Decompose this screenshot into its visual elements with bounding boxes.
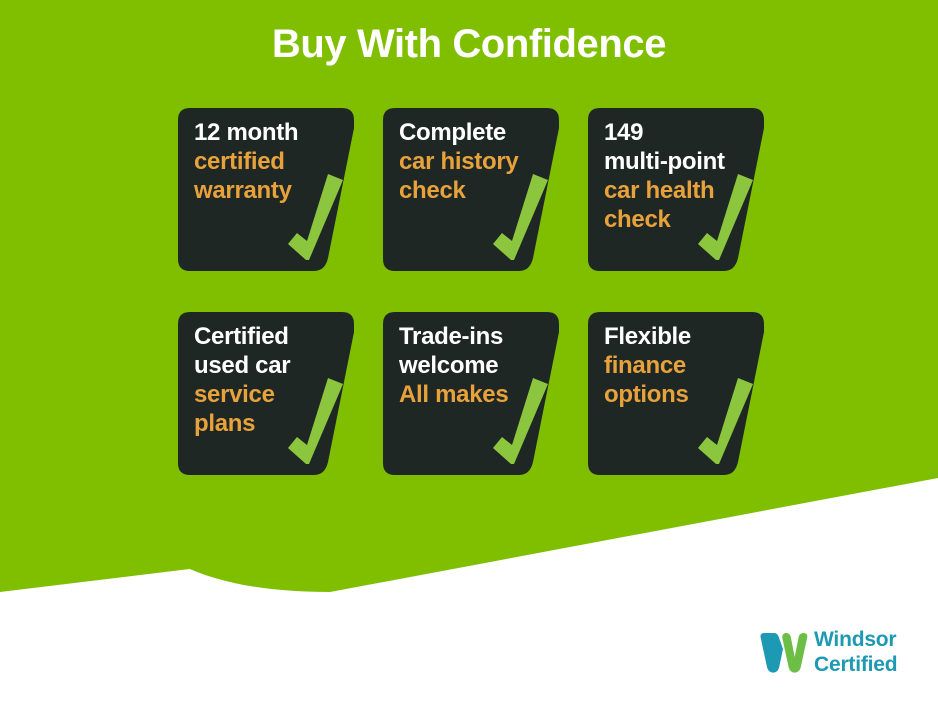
card-line: service [194, 380, 346, 409]
card-line: car history [399, 147, 551, 176]
card-12-month-certified-warranty[interactable]: 12 month certified warranty [178, 108, 354, 271]
card-line: Flexible [604, 322, 756, 351]
card-line: 149 [604, 118, 756, 147]
card-line: options [604, 380, 756, 409]
poster-canvas: Buy With Confidence 12 month certified w… [0, 0, 938, 704]
windsor-w-icon [760, 629, 808, 675]
card-line: Trade-ins [399, 322, 551, 351]
windsor-certified-logo[interactable]: Windsor Certified [760, 627, 920, 681]
card-line: welcome [399, 351, 551, 380]
card-certified-used-car-service-plans[interactable]: Certified used car service plans [178, 312, 354, 475]
card-flexible-finance-options[interactable]: Flexible finance options [588, 312, 764, 475]
card-trade-ins-welcome-all-makes[interactable]: Trade-ins welcome All makes [383, 312, 559, 475]
card-text: Certified used car service plans [194, 322, 346, 438]
card-line: certified [194, 147, 346, 176]
card-line: check [399, 176, 551, 205]
card-line: plans [194, 409, 346, 438]
card-line: Certified [194, 322, 346, 351]
logo-line-2: Certified [814, 652, 897, 677]
card-text: Trade-ins welcome All makes [399, 322, 551, 409]
card-text: 12 month certified warranty [194, 118, 346, 205]
card-line: All makes [399, 380, 551, 409]
card-line: check [604, 205, 756, 234]
card-line: warranty [194, 176, 346, 205]
card-text: Complete car history check [399, 118, 551, 205]
card-line: car health [604, 176, 756, 205]
card-line: finance [604, 351, 756, 380]
card-line: Complete [399, 118, 551, 147]
page-title: Buy With Confidence [0, 20, 938, 68]
card-line: used car [194, 351, 346, 380]
card-line: multi-point [604, 147, 756, 176]
logo-wordmark: Windsor Certified [814, 627, 897, 677]
logo-line-1: Windsor [814, 627, 897, 652]
card-149-multi-point-car-health-check[interactable]: 149 multi-point car health check [588, 108, 764, 271]
card-complete-car-history-check[interactable]: Complete car history check [383, 108, 559, 271]
card-text: 149 multi-point car health check [604, 118, 756, 234]
card-text: Flexible finance options [604, 322, 756, 409]
card-line: 12 month [194, 118, 346, 147]
